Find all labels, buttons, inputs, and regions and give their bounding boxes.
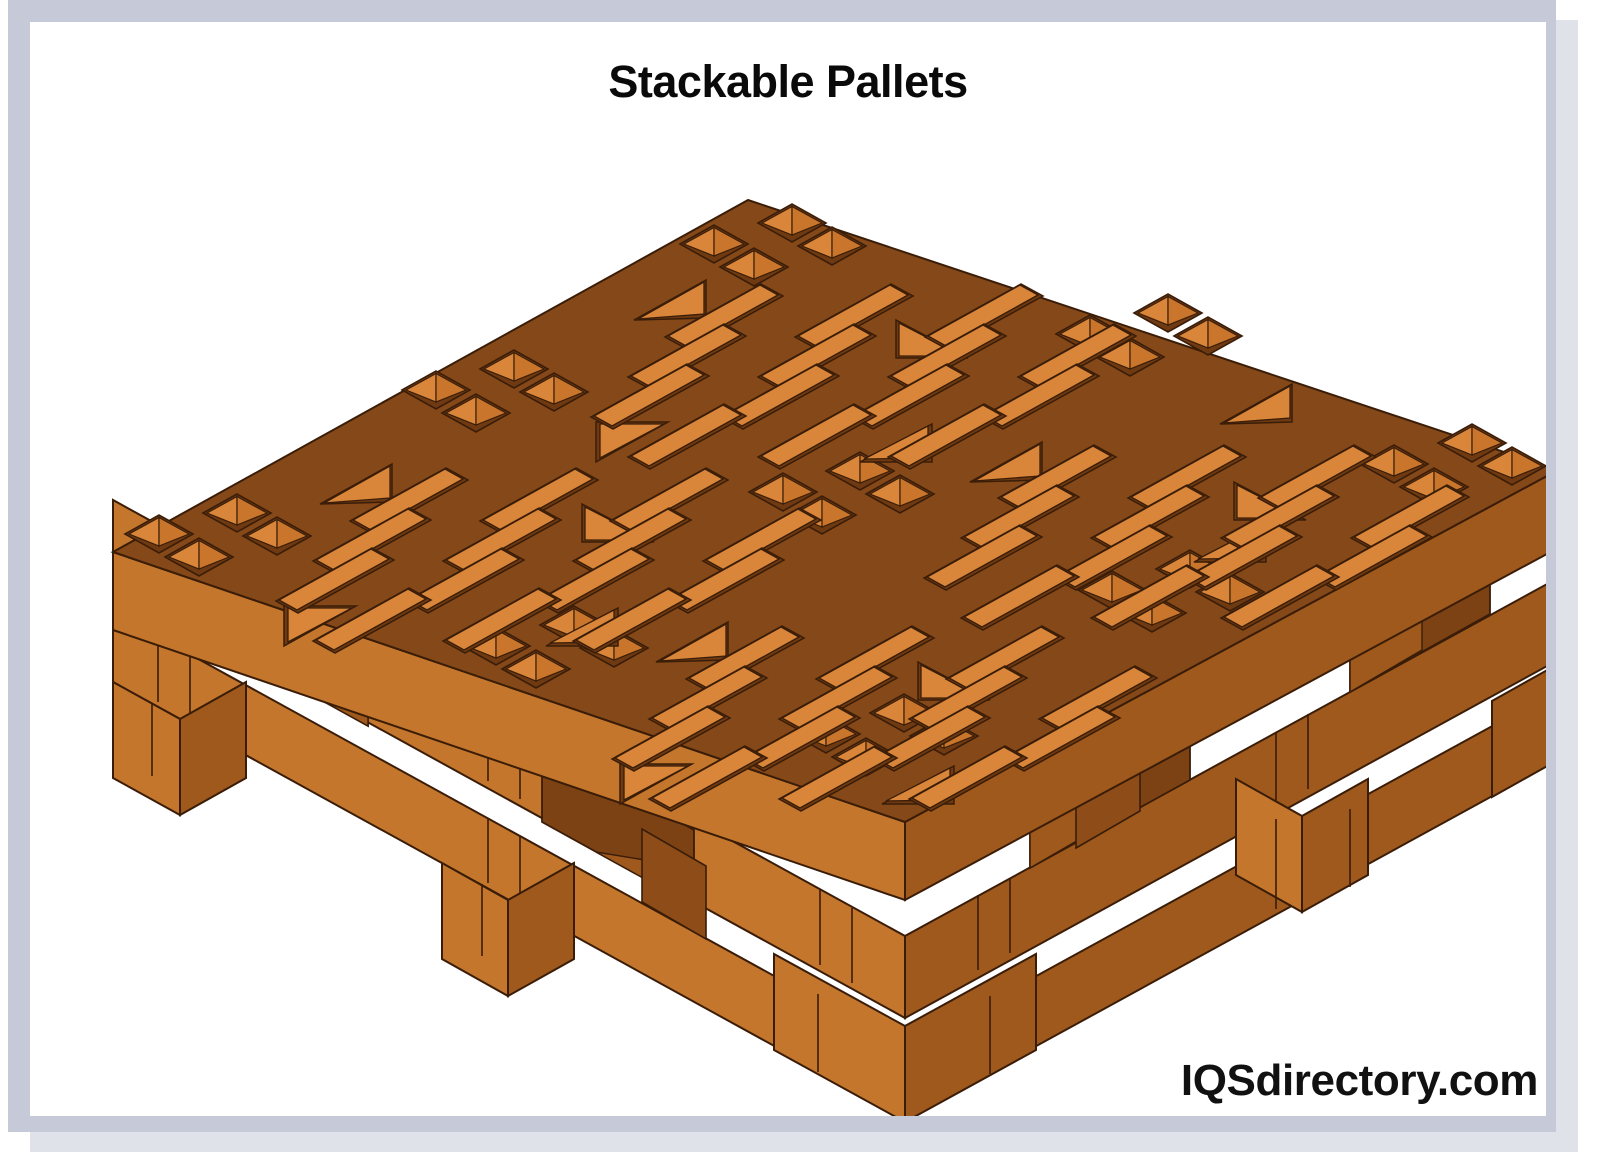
foot-right-mid-right [1302, 779, 1368, 912]
pallet-svg [30, 22, 1546, 1116]
image-frame: Stackable Pallets [0, 0, 1600, 1147]
pallet-illustration [30, 22, 1546, 1116]
watermark: IQSdirectory.com [1181, 1056, 1538, 1106]
illustration-canvas: Stackable Pallets [30, 22, 1546, 1116]
